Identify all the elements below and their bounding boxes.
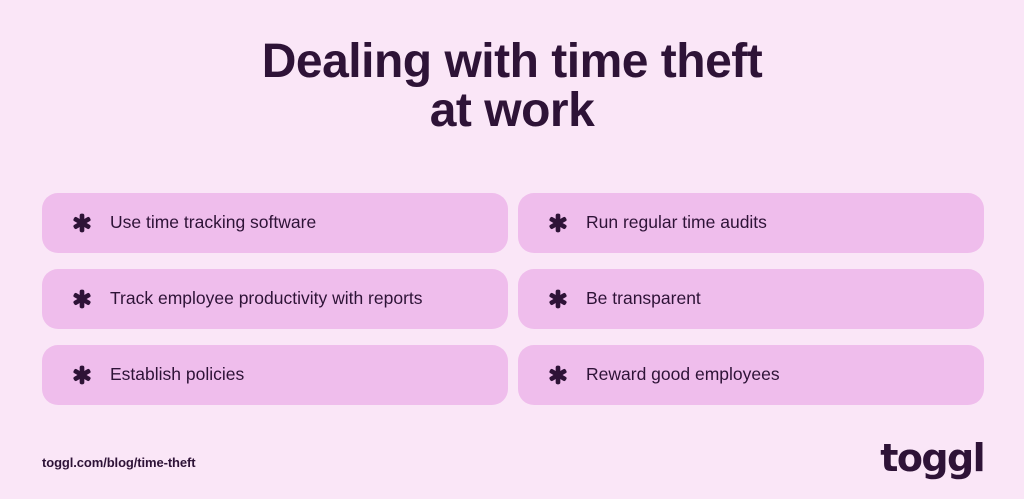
tip-card-label: Establish policies: [110, 366, 244, 384]
page-title: Dealing with time theft at work: [0, 38, 1024, 136]
source-url: toggl.com/blog/time-theft: [42, 455, 195, 470]
asterisk-flower-icon: [72, 213, 92, 233]
title-line-2: at work: [0, 87, 1024, 136]
infographic-slide: Dealing with time theft at work Use time…: [0, 0, 1024, 499]
tip-card: Track employee productivity with reports: [42, 269, 508, 329]
tip-card-label: Reward good employees: [586, 366, 780, 384]
tip-card: Reward good employees: [518, 345, 984, 405]
title-line-1: Dealing with time theft: [0, 38, 1024, 87]
asterisk-flower-icon: [548, 365, 568, 385]
tip-card-label: Track employee productivity with reports: [110, 290, 423, 308]
tip-card-label: Use time tracking software: [110, 214, 316, 232]
toggl-logo: toggl: [880, 439, 984, 477]
asterisk-flower-icon: [72, 289, 92, 309]
tip-card: Be transparent: [518, 269, 984, 329]
tip-card: Run regular time audits: [518, 193, 984, 253]
tip-card: Use time tracking software: [42, 193, 508, 253]
asterisk-flower-icon: [548, 213, 568, 233]
tip-card: Establish policies: [42, 345, 508, 405]
tip-card-label: Run regular time audits: [586, 214, 767, 232]
tip-card-label: Be transparent: [586, 290, 701, 308]
asterisk-flower-icon: [72, 365, 92, 385]
tips-card-grid: Use time tracking software Run regular t…: [42, 193, 982, 405]
asterisk-flower-icon: [548, 289, 568, 309]
